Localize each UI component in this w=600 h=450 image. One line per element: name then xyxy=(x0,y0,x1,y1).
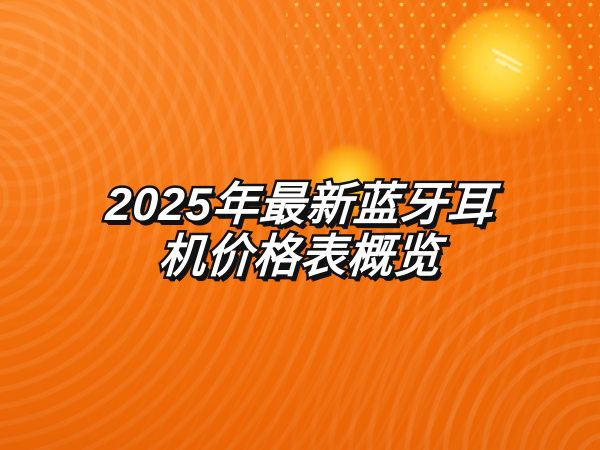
banner-title-line-2: 机价格表概览 xyxy=(0,230,600,282)
promo-banner: 2025年最新蓝牙耳 机价格表概览 xyxy=(0,0,600,450)
diagonal-hatch-icon xyxy=(0,0,600,450)
vignette-overlay xyxy=(0,0,600,450)
concentric-waves-secondary-icon xyxy=(0,0,600,450)
concentric-waves-icon xyxy=(0,0,600,450)
glow-blob-core-icon xyxy=(466,36,540,102)
sparkle-streak-icon xyxy=(491,48,522,67)
banner-title: 2025年最新蓝牙耳 机价格表概览 xyxy=(0,178,600,282)
background-gradient xyxy=(0,0,600,450)
banner-title-line-1: 2025年最新蓝牙耳 xyxy=(0,178,600,230)
glow-blob-small-icon xyxy=(310,145,388,221)
corner-arcs-icon xyxy=(0,0,600,450)
sparkle-streak-secondary-icon xyxy=(495,58,521,74)
dot-pattern-icon xyxy=(286,0,600,122)
glow-blob-icon xyxy=(440,8,572,136)
